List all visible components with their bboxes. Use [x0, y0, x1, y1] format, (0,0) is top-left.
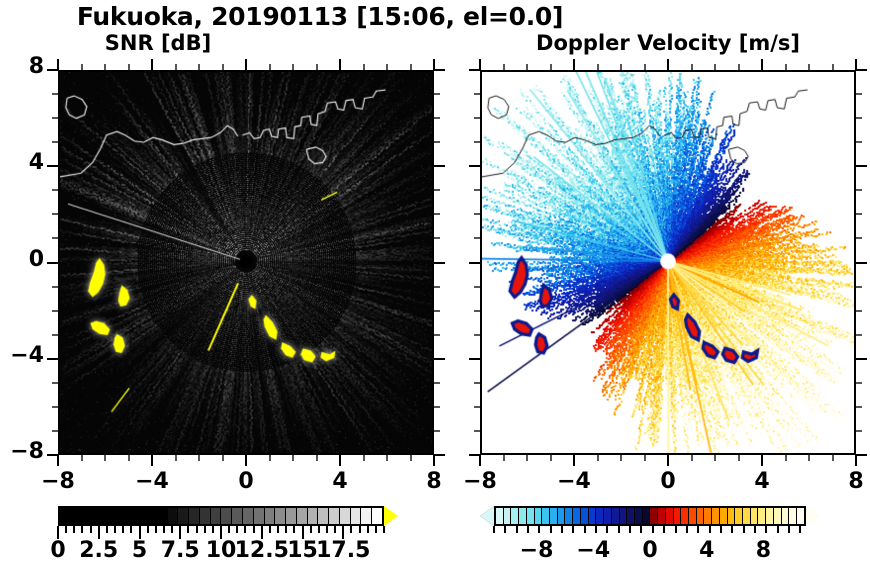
colorbar-cell — [564, 508, 572, 524]
snr-xaxis-label: −8 — [18, 469, 98, 494]
colorbar-cell — [339, 508, 350, 524]
colorbar-cell — [518, 508, 526, 524]
snr-xtick-top — [386, 64, 388, 70]
dop-xtick-bottom — [526, 455, 528, 461]
dop-xtick-bottom — [597, 455, 599, 461]
colorbar-tick — [375, 526, 377, 533]
colorbar-cell — [796, 508, 804, 524]
colorbar-tick — [285, 526, 287, 533]
colorbar-cell — [134, 508, 145, 524]
colorbar-cell — [634, 508, 642, 524]
colorbar-tick — [550, 526, 552, 533]
dop-ytick-right — [856, 406, 862, 408]
colorbar-cell — [285, 508, 296, 524]
colorbar-cell — [328, 508, 339, 524]
dop-ytick-right — [856, 189, 862, 191]
snr-yaxis-label: 8 — [0, 54, 44, 79]
colorbar-tick — [196, 526, 198, 533]
snr-ytick-left — [47, 454, 58, 456]
dop-xtick-bottom — [691, 455, 693, 461]
colorbar-cell — [549, 508, 557, 524]
dop-ytick-right — [856, 141, 862, 143]
colorbar-cell — [788, 508, 796, 524]
snr-xtick-bottom — [269, 455, 271, 461]
colorbar-cell — [510, 508, 518, 524]
colorbar-cell — [580, 508, 588, 524]
dop-ytick-right — [856, 334, 862, 336]
dop-ytick-right — [856, 93, 862, 95]
colorbar-tick — [212, 526, 214, 533]
snr-ytick-left — [52, 117, 58, 119]
snr-xtick-bottom — [128, 455, 130, 461]
dop-ytick-left — [469, 358, 480, 360]
snr-xtick-bottom — [81, 455, 83, 461]
colorbar-cell — [703, 508, 711, 524]
dop-ytick-left — [469, 262, 480, 264]
dop-ytick-left — [474, 286, 480, 288]
colorbar-cell — [102, 508, 113, 524]
colorbar-cell — [649, 508, 657, 524]
snr-xtick-top — [151, 59, 153, 70]
snr-ytick-left — [52, 382, 58, 384]
dop-ytick-left — [469, 454, 480, 456]
colorbar-tick — [493, 526, 495, 533]
snr-yaxis-label: −8 — [0, 439, 44, 464]
colorbar-tick — [788, 526, 790, 533]
snr-ytick-right — [434, 430, 440, 432]
colorbar-cell — [619, 508, 627, 524]
colorbar-cell — [526, 508, 534, 524]
colorbar-cell — [199, 508, 210, 524]
colorbar-cell — [611, 508, 619, 524]
colorbar-tick — [310, 526, 312, 533]
dop-xaxis-label: 0 — [628, 469, 708, 494]
snr-panel-title: SNR [dB] — [58, 31, 258, 55]
doppler-colorbar-under-arrow-icon — [480, 506, 494, 526]
snr-ytick-left — [52, 237, 58, 239]
snr-xtick-bottom — [316, 455, 318, 461]
snr-ytick-right — [434, 358, 445, 360]
dop-xtick-top — [808, 64, 810, 70]
dop-ytick-right — [856, 237, 862, 239]
snr-ytick-left — [52, 93, 58, 95]
doppler-colorbar-over-arrow-icon — [806, 506, 820, 526]
snr-ytick-right — [434, 69, 445, 71]
colorbar-tick — [383, 526, 385, 533]
snr-xtick-bottom — [175, 455, 177, 461]
dop-ytick-left — [474, 382, 480, 384]
colorbar-cell — [81, 508, 92, 524]
colorbar-cell — [210, 508, 221, 524]
dop-xtick-bottom — [714, 455, 716, 461]
colorbar-cell — [541, 508, 549, 524]
colorbar-cell — [603, 508, 611, 524]
colorbar-tick — [228, 526, 230, 533]
colorbar-tick — [367, 526, 369, 533]
dop-ytick-right — [856, 117, 862, 119]
snr-yaxis-label: 0 — [0, 247, 44, 272]
dop-xtick-bottom — [644, 455, 646, 461]
dop-ytick-right — [856, 165, 867, 167]
dop-ytick-right — [856, 286, 862, 288]
dop-ytick-left — [474, 237, 480, 239]
snr-xtick-top — [104, 64, 106, 70]
colorbar-cell — [657, 508, 665, 524]
colorbar-cell — [360, 508, 371, 524]
dop-xtick-bottom — [667, 455, 669, 466]
colorbar-tick — [754, 526, 756, 533]
snr-xtick-bottom — [151, 455, 153, 466]
colorbar-tick — [114, 526, 116, 533]
page-title: Fukuoka, 20190113 [15:06, el=0.0] — [0, 2, 640, 31]
dop-xtick-top — [597, 64, 599, 70]
snr-yaxis-label: −4 — [0, 343, 44, 368]
dop-ytick-left — [469, 165, 480, 167]
colorbar-cell — [145, 508, 156, 524]
dop-xtick-top — [691, 64, 693, 70]
colorbar-tick — [629, 526, 631, 533]
colorbar-tick — [720, 526, 722, 533]
colorbar-tick — [743, 526, 745, 533]
colorbar-cell — [557, 508, 565, 524]
colorbar-tick — [799, 526, 801, 533]
dop-xtick-bottom — [738, 455, 740, 461]
snr-ytick-left — [52, 310, 58, 312]
snr-xtick-top — [245, 59, 247, 70]
snr-ytick-right — [434, 454, 445, 456]
snr-xtick-top — [198, 64, 200, 70]
doppler-radar-image — [482, 72, 854, 453]
dop-xtick-top — [738, 64, 740, 70]
snr-radar-image — [60, 72, 432, 453]
snr-colorbar[interactable] — [58, 506, 398, 526]
colorbar-cell — [781, 508, 789, 524]
dop-xtick-top — [714, 64, 716, 70]
colorbar-tick — [595, 526, 597, 533]
colorbar-tick — [675, 526, 677, 533]
dop-xtick-bottom — [761, 455, 763, 466]
colorbar-cell — [264, 508, 275, 524]
colorbar-tick — [584, 526, 586, 533]
colorbar-cell — [673, 508, 681, 524]
colorbar-tick — [106, 526, 108, 533]
snr-xtick-bottom — [104, 455, 106, 461]
dop-ytick-right — [856, 430, 862, 432]
colorbar-tick — [269, 526, 271, 533]
colorbar-tick — [709, 526, 711, 533]
dop-xtick-bottom — [479, 455, 481, 466]
colorbar-cell — [156, 508, 167, 524]
colorbar-cell — [750, 508, 758, 524]
colorbar-tick — [81, 526, 83, 533]
snr-ytick-right — [434, 334, 440, 336]
colorbar-cell — [91, 508, 102, 524]
colorbar-cell — [765, 508, 773, 524]
colorbar-tick — [606, 526, 608, 533]
snr-xtick-bottom — [339, 455, 341, 466]
colorbar-cell — [757, 508, 765, 524]
colorbar-tick — [686, 526, 688, 533]
dop-xtick-top — [667, 59, 669, 70]
dop-xaxis-label: −4 — [534, 469, 614, 494]
colorbar-tick — [334, 526, 336, 533]
colorbar-cell — [727, 508, 735, 524]
snr-ytick-left — [52, 334, 58, 336]
snr-xaxis-label: 4 — [300, 469, 380, 494]
snr-xtick-bottom — [245, 455, 247, 466]
colorbar-tick — [318, 526, 320, 533]
colorbar-tick — [122, 526, 124, 533]
dop-xaxis-label: −8 — [440, 469, 520, 494]
colorbar-tick — [253, 526, 255, 533]
colorbar-tick — [73, 526, 75, 533]
dop-xtick-top — [526, 64, 528, 70]
snr-xtick-bottom — [198, 455, 200, 461]
dop-ytick-right — [856, 358, 867, 360]
snr-colorbar-over-arrow-icon — [384, 506, 398, 526]
snr-xtick-bottom — [363, 455, 365, 461]
dop-xtick-bottom — [808, 455, 810, 461]
dop-xtick-top — [503, 64, 505, 70]
colorbar-tick — [777, 526, 779, 533]
snr-ytick-right — [434, 117, 440, 119]
colorbar-cell — [642, 508, 650, 524]
colorbar-cell — [317, 508, 328, 524]
colorbar-cell — [711, 508, 719, 524]
dop-xtick-bottom — [503, 455, 505, 461]
colorbar-tick — [204, 526, 206, 533]
snr-ytick-right — [434, 286, 440, 288]
colorbar-tick — [65, 526, 67, 533]
colorbar-cell — [167, 508, 178, 524]
colorbar-cell — [696, 508, 704, 524]
colorbar-tick — [516, 526, 518, 533]
snr-ytick-right — [434, 382, 440, 384]
colorbar-cell — [242, 508, 253, 524]
colorbar-tick — [277, 526, 279, 533]
snr-ytick-left — [47, 358, 58, 360]
snr-xtick-bottom — [292, 455, 294, 461]
colorbar-tick — [731, 526, 733, 533]
snr-xtick-top — [128, 64, 130, 70]
dop-ytick-right — [856, 69, 867, 71]
dop-ytick-right — [856, 262, 867, 264]
snr-ytick-right — [434, 262, 445, 264]
doppler-panel-title: Doppler Velocity [m/s] — [480, 31, 856, 55]
snr-xtick-top — [410, 64, 412, 70]
snr-ytick-left — [47, 69, 58, 71]
colorbar-cell — [626, 508, 634, 524]
snr-yaxis-label: 4 — [0, 150, 44, 175]
colorbar-tick — [765, 526, 767, 533]
dop-xtick-top — [620, 64, 622, 70]
colorbar-cell — [231, 508, 242, 524]
dop-ytick-left — [474, 310, 480, 312]
snr-ytick-left — [47, 262, 58, 264]
dop-ytick-right — [856, 454, 867, 456]
colorbar-tick — [147, 526, 149, 533]
dop-ytick-left — [474, 406, 480, 408]
colorbar-tick — [697, 526, 699, 533]
colorbar-tick — [561, 526, 563, 533]
snr-ytick-right — [434, 310, 440, 312]
colorbar-cell — [274, 508, 285, 524]
snr-colorbar-label: 17.5 — [298, 538, 388, 563]
snr-ytick-right — [434, 141, 440, 143]
snr-ytick-left — [52, 189, 58, 191]
snr-xtick-top — [222, 64, 224, 70]
snr-xtick-top — [339, 59, 341, 70]
snr-xtick-bottom — [433, 455, 435, 466]
dop-xtick-top — [761, 59, 763, 70]
colorbar-tick — [350, 526, 352, 533]
colorbar-cell — [588, 508, 596, 524]
colorbar-tick — [90, 526, 92, 533]
snr-xtick-top — [81, 64, 83, 70]
snr-ytick-right — [434, 189, 440, 191]
colorbar-cell — [307, 508, 318, 524]
dop-xtick-bottom — [620, 455, 622, 461]
dop-ytick-left — [474, 334, 480, 336]
colorbar-tick — [572, 526, 574, 533]
colorbar-cell — [113, 508, 124, 524]
colorbar-tick — [293, 526, 295, 533]
colorbar-tick — [652, 526, 654, 533]
snr-xtick-bottom — [57, 455, 59, 466]
dop-ytick-right — [856, 213, 862, 215]
colorbar-cell — [595, 508, 603, 524]
dop-xtick-bottom — [550, 455, 552, 461]
colorbar-tick — [527, 526, 529, 533]
colorbar-tick — [359, 526, 361, 533]
colorbar-cell — [296, 508, 307, 524]
snr-ytick-right — [434, 237, 440, 239]
dop-ytick-left — [474, 189, 480, 191]
snr-colorbar-gradient — [58, 506, 384, 526]
snr-xtick-bottom — [410, 455, 412, 461]
dop-ytick-left — [474, 93, 480, 95]
colorbar-tick — [538, 526, 540, 533]
colorbar-tick — [163, 526, 165, 533]
colorbar-tick — [663, 526, 665, 533]
doppler-colorbar-label: 8 — [718, 538, 808, 563]
snr-xtick-top — [292, 64, 294, 70]
snr-xtick-top — [316, 64, 318, 70]
snr-xtick-bottom — [386, 455, 388, 461]
snr-ytick-left — [52, 430, 58, 432]
dop-xtick-top — [550, 64, 552, 70]
dop-ytick-right — [856, 382, 862, 384]
snr-xaxis-label: −4 — [112, 469, 192, 494]
colorbar-tick — [618, 526, 620, 533]
dop-xtick-bottom — [832, 455, 834, 461]
snr-ytick-left — [52, 406, 58, 408]
dop-xaxis-label: 8 — [816, 469, 870, 494]
snr-xtick-top — [175, 64, 177, 70]
colorbar-cell — [773, 508, 781, 524]
colorbar-cell — [253, 508, 264, 524]
colorbar-cell — [572, 508, 580, 524]
dop-ytick-left — [469, 69, 480, 71]
dop-xtick-bottom — [855, 455, 857, 466]
snr-ytick-right — [434, 165, 445, 167]
colorbar-cell — [188, 508, 199, 524]
dop-ytick-left — [474, 117, 480, 119]
snr-ytick-left — [52, 141, 58, 143]
snr-ytick-right — [434, 213, 440, 215]
dop-xtick-top — [644, 64, 646, 70]
snr-ytick-left — [47, 165, 58, 167]
colorbar-cell — [496, 508, 503, 524]
colorbar-cell — [742, 508, 750, 524]
snr-xtick-top — [269, 64, 271, 70]
colorbar-tick — [236, 526, 238, 533]
snr-xtick-bottom — [222, 455, 224, 461]
snr-ytick-right — [434, 93, 440, 95]
colorbar-tick — [171, 526, 173, 533]
snr-ytick-left — [52, 286, 58, 288]
colorbar-cell — [124, 508, 135, 524]
colorbar-tick — [640, 526, 642, 533]
colorbar-cell — [665, 508, 673, 524]
colorbar-cell — [688, 508, 696, 524]
colorbar-tick — [244, 526, 246, 533]
colorbar-cell — [350, 508, 361, 524]
colorbar-tick — [326, 526, 328, 533]
colorbar-cell — [534, 508, 542, 524]
colorbar-cell — [371, 508, 382, 524]
colorbar-cell — [60, 508, 70, 524]
colorbar-cell — [734, 508, 742, 524]
colorbar-cell — [70, 508, 81, 524]
colorbar-tick — [504, 526, 506, 533]
snr-ytick-left — [52, 213, 58, 215]
dop-xtick-bottom — [785, 455, 787, 461]
colorbar-cell — [719, 508, 727, 524]
colorbar-tick — [130, 526, 132, 533]
colorbar-cell — [177, 508, 188, 524]
dop-ytick-left — [474, 430, 480, 432]
snr-plot[interactable] — [58, 70, 434, 455]
dop-ytick-right — [856, 310, 862, 312]
colorbar-cell — [220, 508, 231, 524]
dop-xtick-top — [785, 64, 787, 70]
doppler-colorbar[interactable] — [480, 506, 820, 526]
colorbar-cell — [680, 508, 688, 524]
snr-xaxis-label: 0 — [206, 469, 286, 494]
dop-xaxis-label: 4 — [722, 469, 802, 494]
doppler-colorbar-gradient — [494, 506, 806, 526]
snr-ytick-right — [434, 406, 440, 408]
dop-xtick-top — [832, 64, 834, 70]
colorbar-tick — [155, 526, 157, 533]
dop-xtick-bottom — [573, 455, 575, 466]
snr-xtick-top — [363, 64, 365, 70]
colorbar-tick — [187, 526, 189, 533]
dop-xtick-top — [573, 59, 575, 70]
doppler-plot[interactable] — [480, 70, 856, 455]
dop-ytick-left — [474, 213, 480, 215]
colorbar-cell — [503, 508, 511, 524]
dop-ytick-left — [474, 141, 480, 143]
